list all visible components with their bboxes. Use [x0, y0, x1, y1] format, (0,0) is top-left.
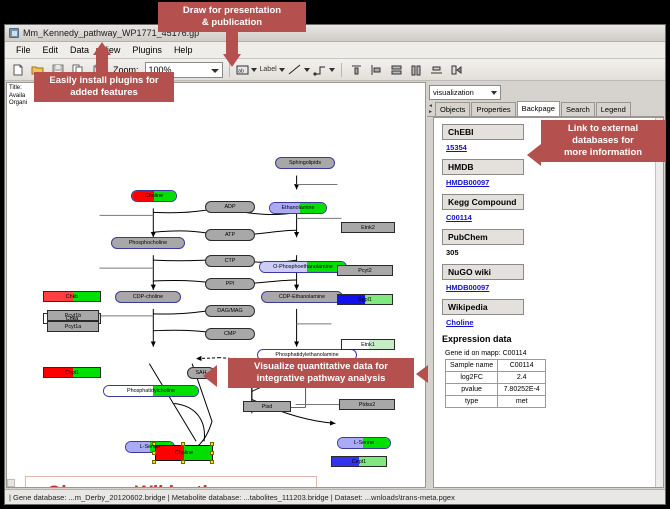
node-cdp-choline[interactable]: CDP-choline — [115, 291, 181, 303]
menu-item-plugins[interactable]: Plugins — [126, 45, 168, 55]
backpage-content[interactable]: ChEBI 15354 HMDB HMDB00097 Kegg Compound… — [433, 117, 664, 488]
node-label: Sphingolipids — [289, 160, 321, 166]
chevron-down-icon — [491, 91, 497, 95]
node-label: Phosphatidylcholine — [127, 388, 175, 394]
new-icon[interactable] — [9, 61, 26, 78]
svg-text:ab: ab — [238, 68, 244, 74]
node-label: CDP-Ethanolamine — [279, 294, 325, 300]
node-choline-top[interactable]: Choline — [131, 190, 177, 202]
status-bar-text: | Gene database: ...m_Derby_20120602.bri… — [9, 493, 455, 502]
node-label: PPI — [226, 281, 235, 287]
node-label: CTP — [225, 258, 236, 264]
align-left-icon[interactable] — [368, 61, 385, 78]
chevron-down-icon — [304, 68, 310, 72]
stack-center-icon[interactable] — [428, 61, 445, 78]
selection-handle[interactable] — [181, 460, 185, 464]
node-label: Chka — [66, 316, 79, 322]
node-label: Pcyt2 — [358, 268, 371, 274]
tab-objects[interactable]: Objects — [435, 102, 470, 116]
callout-visualize-arrow — [203, 365, 217, 387]
backpage-header-pubchem: PubChem — [442, 229, 524, 245]
callout-draw-arrow — [223, 54, 241, 67]
callout-link-line3: more information — [547, 147, 659, 159]
callout-visualize: Visualize quantitative data for integrat… — [228, 358, 414, 388]
node-ctp[interactable]: CTP — [205, 255, 255, 267]
align-top-icon[interactable] — [348, 61, 365, 78]
status-bar: | Gene database: ...m_Derby_20120602.bri… — [5, 489, 665, 504]
node-pisd[interactable]: Pisd — [243, 401, 291, 412]
node-label: Sgpl1 — [358, 297, 372, 303]
callout-draw-line1: Draw for presentation — [164, 5, 300, 17]
scroll-right-icon: ► — [428, 110, 433, 115]
menu-item-data[interactable]: Data — [64, 45, 95, 55]
selection-handle[interactable] — [210, 460, 214, 464]
backpage-link-nugo[interactable]: HMDB00097 — [446, 283, 663, 292]
backpage-scrollbar[interactable] — [655, 118, 663, 487]
node-label: L-Serine — [140, 444, 160, 450]
table-cell-value: met — [498, 396, 546, 408]
node-label: L-Serine — [354, 440, 374, 446]
table-row: pvalue 7.80252E-4 — [446, 384, 546, 396]
node-pcyt1a[interactable]: Pcyt1a — [47, 321, 99, 332]
menu-item-file[interactable]: File — [10, 45, 37, 55]
node-phosphatidylcholine[interactable]: Phosphatidylcholine — [103, 385, 199, 397]
table-cell-key: pvalue — [446, 384, 498, 396]
common-width-icon[interactable] — [408, 61, 425, 78]
node-label: Chpt1 — [65, 370, 79, 376]
node-label: Ethanolamine — [282, 205, 315, 211]
chevron-down-icon — [329, 68, 335, 72]
visualization-row: visualization — [427, 82, 664, 102]
visualization-combo[interactable]: visualization — [429, 85, 501, 100]
table-cell-key: Sample name — [446, 360, 498, 372]
expression-data-title: Expression data — [442, 334, 663, 344]
node-dag-mag[interactable]: DAG/MAG — [205, 305, 255, 317]
table-cell-value: 7.80252E-4 — [498, 384, 546, 396]
callout-link-line1: Link to external — [547, 123, 659, 135]
selection-handle[interactable] — [181, 442, 185, 446]
callout-plugins: Easily install plugins for added feature… — [34, 72, 174, 102]
table-row: Sample name C00114 — [446, 360, 546, 372]
node-label: Pisd — [262, 404, 273, 410]
menu-item-edit[interactable]: Edit — [37, 45, 65, 55]
node-sphingolipids[interactable]: Sphingolipids — [275, 157, 335, 169]
line-tool[interactable] — [288, 64, 310, 76]
callout-link-line2: databases for — [547, 135, 659, 147]
bring-front-icon[interactable] — [448, 61, 465, 78]
pathway-canvas[interactable]: Title: Availa Organi — [6, 82, 426, 488]
node-label: CDP-choline — [133, 294, 163, 300]
backpage-header-chebi: ChEBI — [442, 124, 524, 140]
backpage-link-wikipedia[interactable]: Choline — [446, 318, 663, 327]
backpage-header-kegg: Kegg Compound — [442, 194, 524, 210]
callout-plugins-line2: added features — [40, 87, 168, 99]
node-l-serine-right[interactable]: L-Serine — [337, 437, 391, 449]
callout-draw-line2: & publication — [164, 17, 300, 29]
node-etnk2[interactable]: Etnk2 — [341, 222, 395, 233]
node-label: O-Phosphoethanolamine — [273, 264, 333, 270]
pathway-drawing[interactable]: Title: Availa Organi — [7, 83, 425, 487]
node-sgpl1[interactable]: Sgpl1 — [337, 294, 393, 305]
gene-id-on-mapp: Gene id on mapp: C00114 — [445, 350, 663, 357]
node-ppi[interactable]: PPI — [205, 278, 255, 290]
node-label: DAG/MAG — [217, 308, 242, 314]
node-label: Cept1 — [352, 459, 366, 465]
table-cell-key: log2FC — [446, 372, 498, 384]
callout-visualize-line2: integrative pathway analysis — [234, 373, 408, 385]
callout-draw-stem — [226, 30, 238, 56]
callout-plugins-arrow — [93, 42, 111, 55]
backpage-header-hmdb: HMDB — [442, 159, 524, 175]
app-icon — [9, 28, 19, 38]
table-cell-value: 2.4 — [498, 372, 546, 384]
chevron-down-icon — [211, 69, 219, 73]
node-label: Choline — [145, 193, 163, 199]
backpage-header-wikipedia: Wikipedia — [442, 299, 524, 315]
backpage-link-hmdb[interactable]: HMDB00097 — [446, 178, 663, 187]
node-label: Chkb — [66, 294, 79, 300]
node-label: Etnk1 — [361, 342, 375, 348]
selection-handle[interactable] — [152, 460, 156, 464]
screenshot-root: Draw for presentation & publication Mm_K… — [0, 0, 670, 509]
callout-visualize-line1: Visualize quantitative data for — [234, 361, 408, 373]
node-etnk1[interactable]: Etnk1 — [341, 339, 395, 350]
node-chpt1[interactable]: Chpt1 — [43, 367, 101, 378]
title-bar: Mm_Kennedy_pathway_WP1771_45176.gp — [5, 25, 665, 42]
label-tool-label: Label — [260, 66, 277, 73]
node-adp[interactable]: ADP — [205, 201, 255, 213]
node-label: Ptdss2 — [359, 402, 375, 408]
node-cmp[interactable]: CMP — [205, 328, 255, 340]
backpage-value-pubchem: 305 — [446, 248, 663, 257]
node-ptdss2[interactable]: Ptdss2 — [339, 399, 395, 410]
tab-properties[interactable]: Properties — [471, 102, 515, 116]
share-banner-text: Share on Wikipathways.org — [47, 483, 295, 488]
node-choline-selected[interactable]: Choline — [155, 445, 213, 461]
connector-tool[interactable] — [313, 64, 335, 76]
tab-search[interactable]: Search — [561, 102, 595, 116]
table-row: log2FC 2.4 — [446, 372, 546, 384]
callout-link: Link to external databases for more info… — [541, 120, 665, 162]
selection-handle[interactable] — [210, 451, 214, 455]
node-label: CMP — [224, 331, 236, 337]
share-banner: Share on Wikipathways.org — [25, 476, 317, 488]
toolbar-separator-2 — [341, 63, 342, 77]
backpage-link-kegg[interactable]: C00114 — [446, 213, 663, 222]
callout-plugins-line1: Easily install plugins for — [40, 75, 168, 87]
node-label: ADP — [224, 204, 235, 210]
expression-data-table: Sample name C00114 log2FC 2.4 pvalue 7.8… — [445, 359, 546, 408]
node-phosphocholine[interactable]: Phosphocholine — [111, 237, 185, 249]
node-ethanolamine-top[interactable]: Ethanolamine — [269, 202, 327, 214]
side-panel-tabs: ◄ ► Objects Properties Backpage Search L… — [427, 102, 664, 117]
common-height-icon[interactable] — [388, 61, 405, 78]
node-label: Phosphocholine — [129, 240, 167, 246]
node-o-phosphoethanolamine[interactable]: O-Phosphoethanolamine — [259, 261, 347, 273]
callout-link-arrow — [527, 144, 541, 166]
scroll-left-icon: ◄ — [428, 104, 433, 109]
table-cell-key: type — [446, 396, 498, 408]
visualization-combo-value: visualization — [433, 88, 474, 97]
tab-backpage[interactable]: Backpage — [517, 101, 560, 116]
table-row: type met — [446, 396, 546, 408]
backpage-header-nugo: NuGO wiki — [442, 264, 524, 280]
menu-item-help[interactable]: Help — [168, 45, 199, 55]
callout-draw: Draw for presentation & publication — [158, 2, 306, 32]
chevron-down-icon — [251, 68, 257, 72]
label-tool[interactable]: Label — [260, 66, 285, 73]
node-label: ATP — [225, 232, 235, 238]
table-cell-value: C00114 — [498, 360, 546, 372]
node-cept1[interactable]: Cept1 — [331, 456, 387, 467]
tab-legend[interactable]: Legend — [596, 102, 631, 116]
callout-expression-arrow — [416, 365, 428, 383]
node-cdp-ethanolamine[interactable]: CDP-Ethanolamine — [261, 291, 343, 303]
canvas-scroll-corner[interactable] — [7, 479, 15, 487]
node-atp[interactable]: ATP — [205, 229, 255, 241]
tab-scroll-arrows[interactable]: ◄ ► — [428, 103, 433, 116]
node-label: Pcyt1a — [65, 324, 81, 330]
selection-handle[interactable] — [152, 451, 156, 455]
selection-handle[interactable] — [210, 442, 214, 446]
node-label: Etnk2 — [361, 225, 375, 231]
node-pcyt2[interactable]: Pcyt2 — [337, 265, 393, 276]
chevron-down-icon — [279, 68, 285, 72]
node-chkb[interactable]: Chkb — [43, 291, 101, 302]
node-label: Choline — [175, 450, 193, 456]
